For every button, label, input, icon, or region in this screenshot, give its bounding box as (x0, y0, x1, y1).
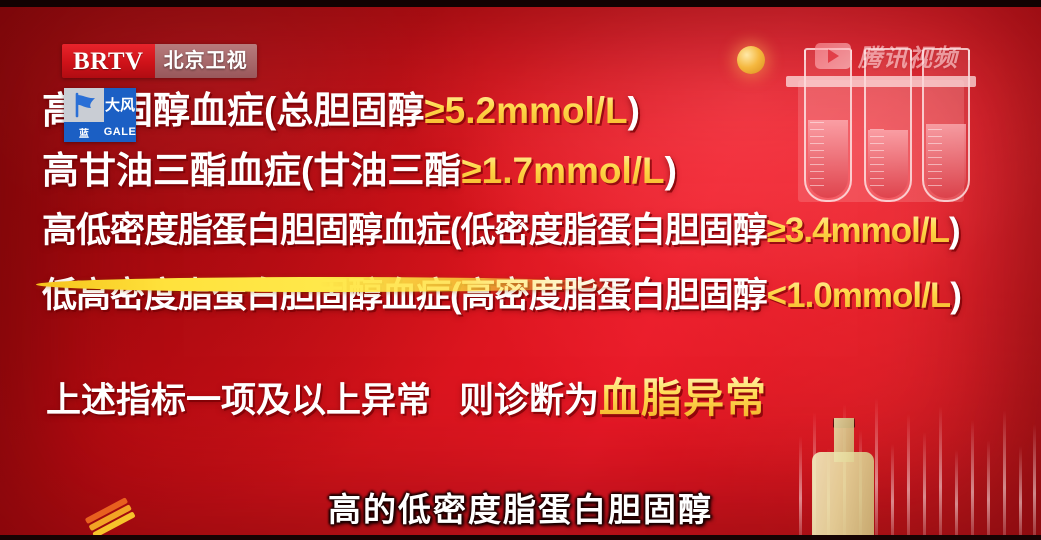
watermark-text: 腾讯视频 (858, 38, 958, 73)
criteria-value-3: ≥3.4mmol/L (767, 211, 949, 250)
criteria-close-3: ) (949, 211, 960, 250)
criteria-close-4: ) (950, 276, 961, 315)
summary-prefix: 上述指标一项及以上异常 (46, 381, 431, 420)
criteria-line-2: 高甘油三酯血症(甘油三酯≥1.7mmol/L) (42, 152, 1022, 189)
criteria-value-1: ≥5.2mmol/L (424, 90, 627, 131)
summary-mid: 则诊断为 (459, 381, 599, 420)
criteria-label-3: 高低密度脂蛋白胆固醇血症(低密度脂蛋白胆固醇 (42, 211, 767, 250)
criteria-label-2: 高甘油三酯血症(甘油三酯 (42, 150, 461, 191)
summary-highlight: 血脂异常 (599, 375, 767, 421)
summary-line: 上述指标一项及以上异常则诊断为血脂异常 (46, 378, 767, 419)
channel-callsign-box: BRTV (62, 44, 155, 78)
weather-alert-english: GALE (104, 122, 136, 142)
criteria-line-3: 高低密度脂蛋白胆固醇血症(低密度脂蛋白胆固醇≥3.4mmol/L) (42, 213, 1022, 248)
highlight-underline (36, 277, 626, 292)
criteria-close-1: ) (628, 90, 640, 131)
criteria-line-1: 高胆固醇血症(总胆固醇≥5.2mmol/L) (42, 92, 1022, 129)
video-frame: BRTV 北京卫视 大风 蓝 GALE 腾讯视频 高胆固醇血症(总胆固醇≥5.2… (0, 0, 1041, 540)
channel-name: 北京卫视 (164, 51, 248, 71)
letterbox-top (0, 0, 1041, 7)
play-triangle-icon (815, 43, 851, 69)
subtitle-text: 高的低密度脂蛋白胆固醇 (0, 483, 1041, 531)
criteria-close-2: ) (665, 150, 677, 191)
channel-callsign: BRTV (73, 49, 144, 74)
weather-alert-type: 大风 (104, 88, 136, 122)
gold-bokeh-dot (737, 46, 765, 74)
rack-bar (786, 76, 976, 87)
letterbox-bottom (0, 535, 1041, 540)
blue-flag-icon (64, 88, 104, 122)
channel-logo: BRTV 北京卫视 (62, 44, 257, 78)
channel-name-box: 北京卫视 (155, 44, 257, 78)
weather-alert-badge: 大风 蓝 GALE (64, 88, 136, 142)
watermark: 腾讯视频 (815, 38, 958, 73)
weather-alert-level: 蓝 (64, 122, 104, 142)
criteria-value-4: <1.0mmol/L (767, 276, 951, 315)
criteria-value-2: ≥1.7mmol/L (461, 150, 664, 191)
